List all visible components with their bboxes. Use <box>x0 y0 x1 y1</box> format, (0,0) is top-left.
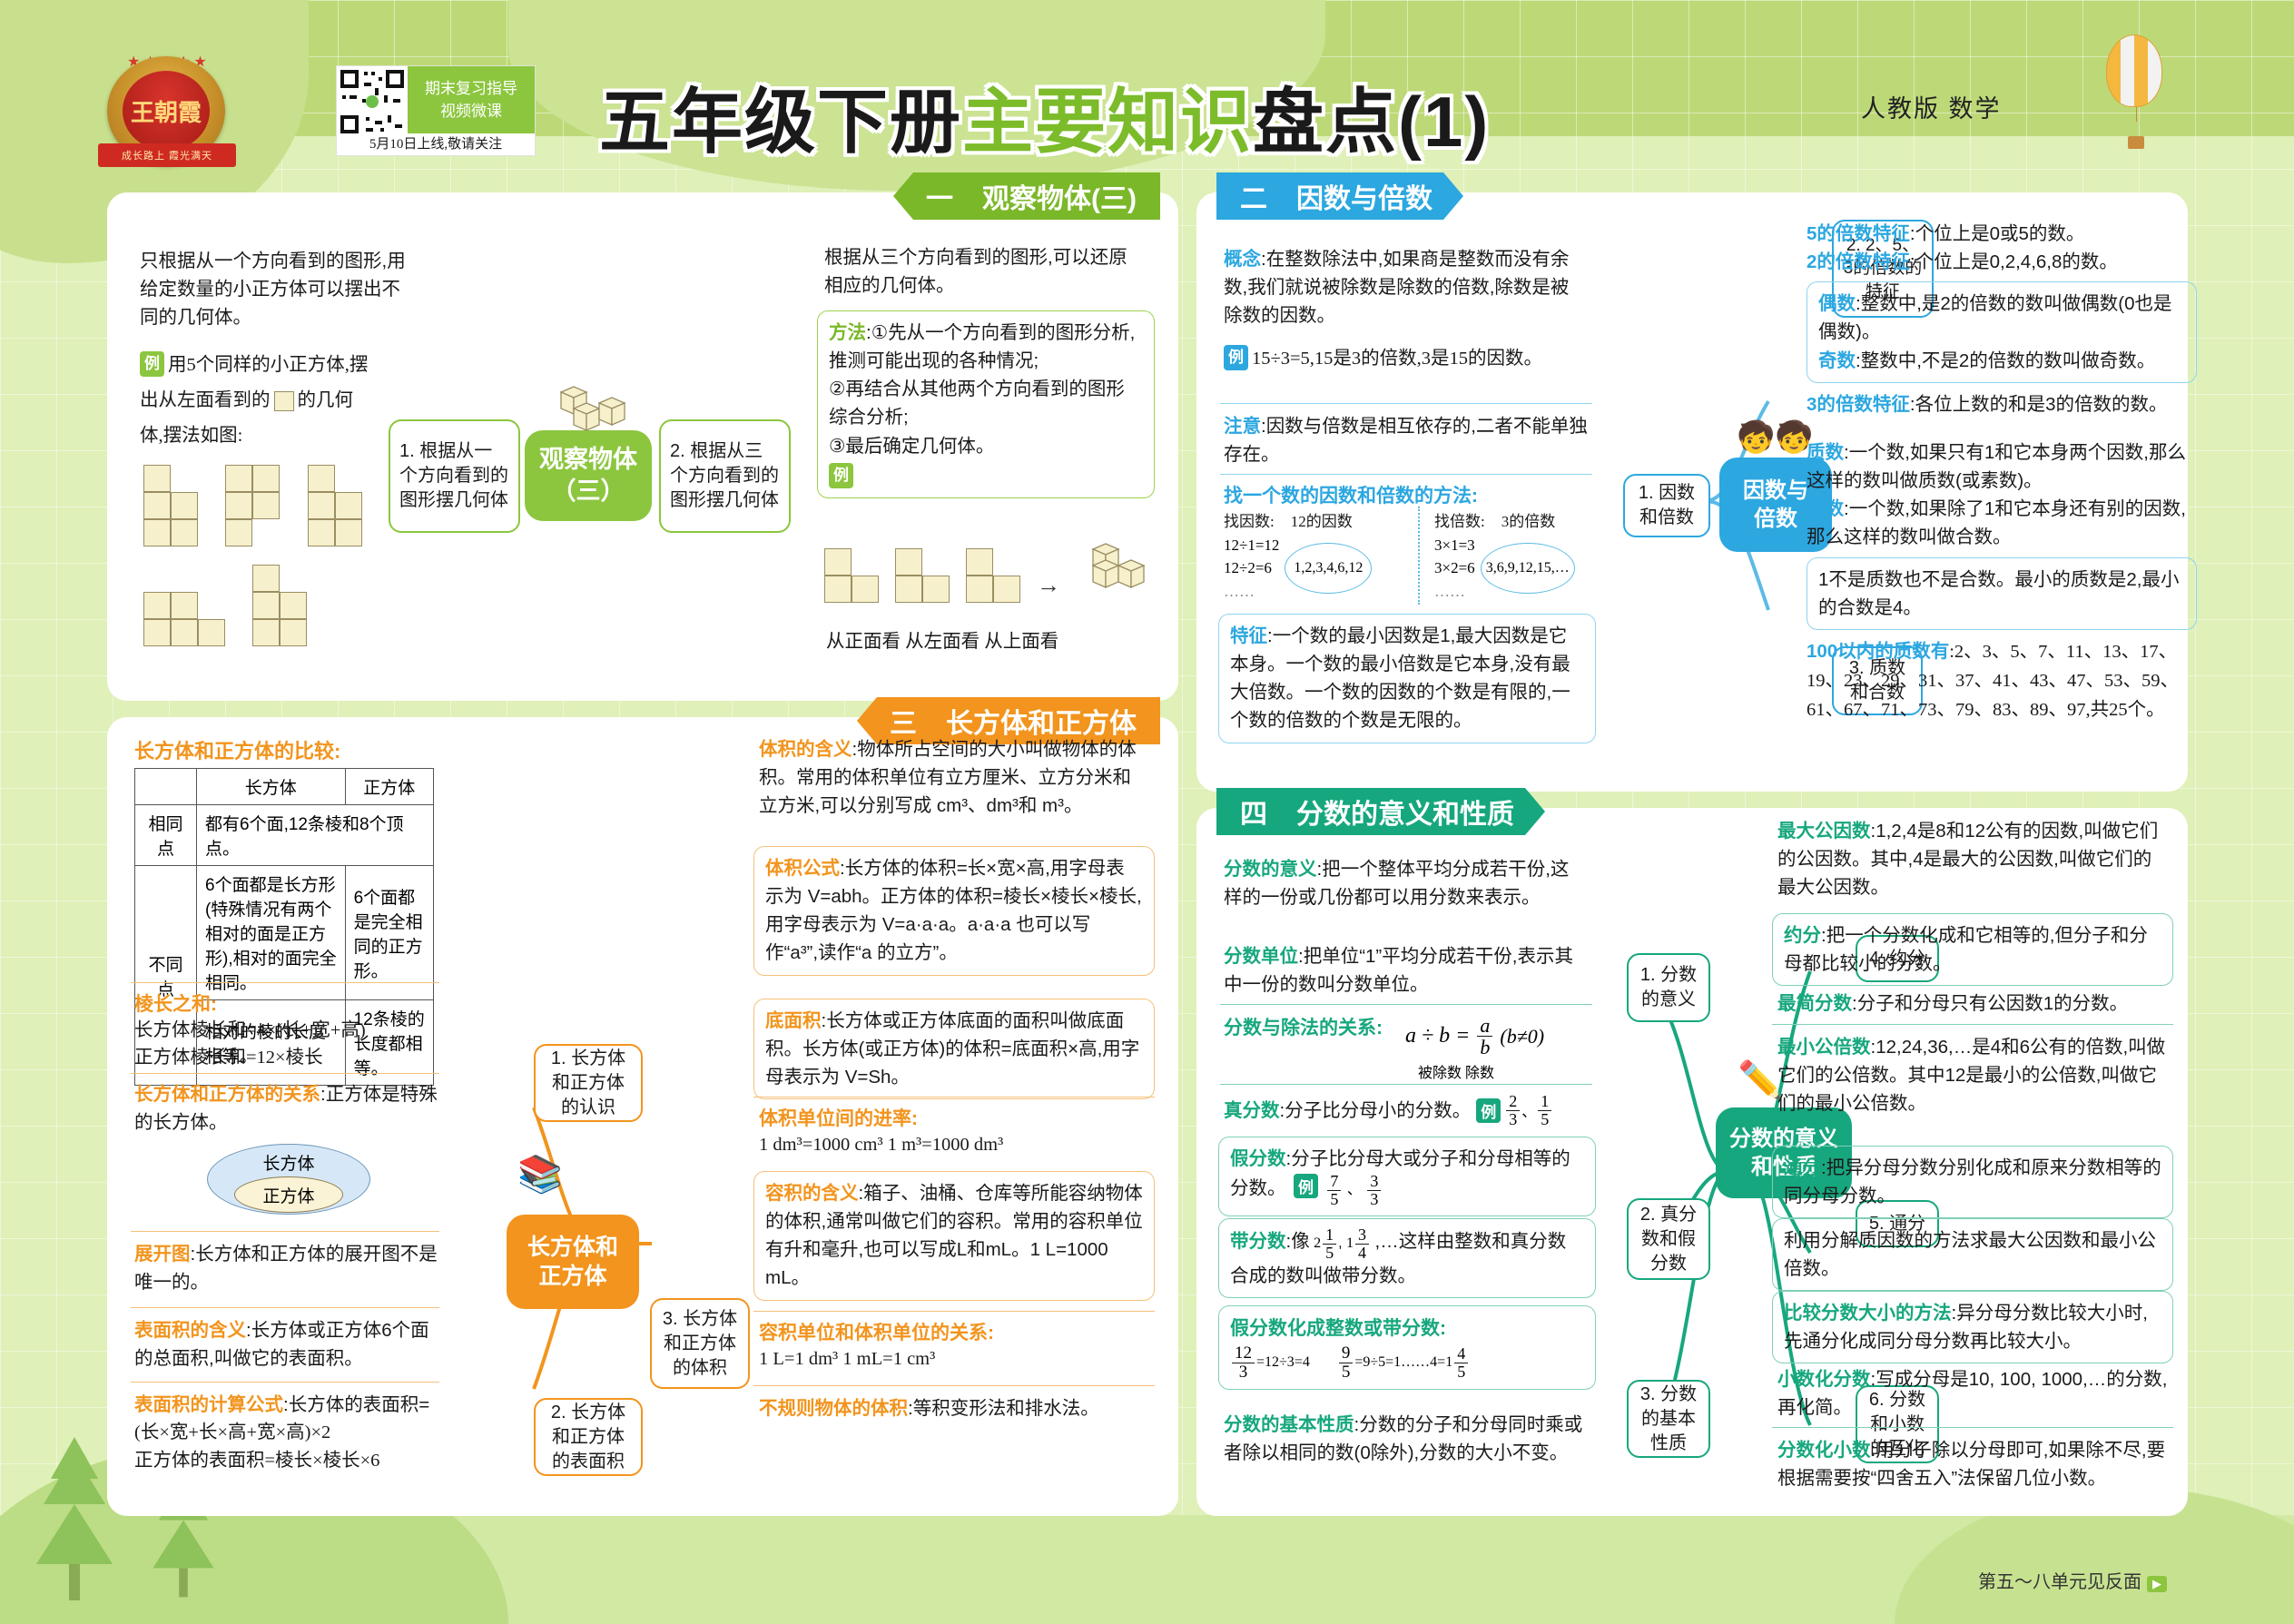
surface-formula-2: (长×宽+长×高+宽×高)×2 <box>134 1419 452 1447</box>
cube-shape <box>143 465 198 546</box>
section-3-node-1[interactable]: 1. 长方体和正方体的认识 <box>534 1044 643 1122</box>
section-1-panel: 一 观察物体(三) 只根据从一个方向看到的图形,用给定数量的小正方体可以摆出不同… <box>107 192 1178 701</box>
vertical-divider <box>1418 507 1420 605</box>
section-4-number: 四 <box>1240 792 1267 832</box>
find-multiple-line2: 3×2=6 <box>1434 556 1475 580</box>
improper-example-2: 33 <box>1367 1173 1381 1208</box>
note-text: :因数与倍数是相互依存的,二者不能单独存在。 <box>1224 416 1588 465</box>
qr-promo-line2: 视频微课 <box>440 100 502 123</box>
small-square-icon <box>274 391 294 411</box>
irregular-text: :等积变形法和排水法。 <box>908 1398 1099 1419</box>
section-2-node-1[interactable]: 1. 因数和倍数 <box>1623 474 1710 537</box>
three-views-captions: 从正面看 从左面看 从上面看 <box>826 628 1058 656</box>
section-4-panel: 四 分数的意义和性质 分数的意义:把一个整体平均分成若干份,这样的一份或几份都可… <box>1196 808 2188 1516</box>
cmp-head-2: 正方体 <box>345 769 433 805</box>
rule-5-text: :个位上是0或5的数。 <box>1910 223 2085 244</box>
method-text-3: ③最后确定几何体。 <box>829 432 1143 460</box>
reduce-box: 约分:把一个分数化成和它相等的,但分子和分母都比较小的分数。 <box>1772 913 2173 986</box>
prime-factor-box: 利用分解质因数的方法求最大公因数和最小公倍数。 <box>1772 1218 2173 1291</box>
table-header-row: 长方体 正方体 <box>135 769 434 805</box>
mixed-label: 带分数 <box>1230 1231 1286 1252</box>
fraction-unit-block: 分数单位:把单位“1”平均分成若干份,表示其中一份的数叫分数单位。 <box>1224 942 1587 999</box>
conversion-eq-2: =9÷5=1……4= <box>1354 1354 1445 1370</box>
cmp-diff-a1: 6个面都是长方形(特殊情况有两个相对的面是正方形),相对的面完全相同。 <box>197 866 346 1000</box>
section-3-node-3[interactable]: 3. 长方体和正方体的体积 <box>650 1298 750 1389</box>
basic-property-block: 分数的基本性质:分数的分子和分母同时乘或者除以相同的数(0除外),分数的大小不变… <box>1224 1411 1587 1467</box>
capacity-relation-block: 容积单位和体积单位的关系: 1 L=1 dm³ 1 mL=1 cm³ <box>759 1318 994 1373</box>
rule-2-text: :个位上是0,2,4,6,8的数。 <box>1910 251 2118 272</box>
meaning-label: 分数的意义 <box>1224 859 1317 880</box>
page-title: 五年级下册主要知识盘点(1) <box>599 65 1743 156</box>
page-header: ★★★★★ 王朝霞 成长路上 霞光满天 <box>0 0 2294 182</box>
section-2-header: 二 因数与倍数 <box>1216 172 1463 220</box>
section-1-method-box: 方法:①先从一个方向看到的图形分析,推测可能出现的各种情况; ②再结合从其他两个… <box>817 310 1155 498</box>
section-2-example: 例15÷3=5,15是3的倍数,3是15的因数。 <box>1224 345 1587 373</box>
dec2frac-label: 小数化分数 <box>1777 1369 1871 1390</box>
venn-inner-label: 正方体 <box>234 1176 343 1213</box>
even-text: :整数中,是2的倍数的数叫做偶数(0也是偶数)。 <box>1818 293 2172 342</box>
division-relation-formula: a ÷ b = ab (b≠0) <box>1405 1015 1544 1058</box>
rule-2-label: 2的倍数特征 <box>1807 251 1910 272</box>
method-text-1: :①先从一个方向看到的图形分析,推测可能出现的各种情况; <box>829 322 1135 371</box>
example-badge: 例 <box>140 351 164 377</box>
mixed-example-1: 215 <box>1314 1226 1338 1262</box>
proper-label: 真分数 <box>1224 1100 1280 1121</box>
surface-area-block: 表面积的含义:长方体或正方体6个面的总面积,叫做它的表面积。 <box>134 1316 443 1373</box>
section-1-right-text: 根据从三个方向看到的图形,可以还原相应的几何体。 <box>824 243 1142 300</box>
find-multiple-line1: 3×1=3 <box>1434 534 1475 557</box>
capacity-label: 容积的含义 <box>765 1183 859 1204</box>
section-1-title: 观察物体(三) <box>982 176 1137 216</box>
capacity-relation-label: 容积单位和体积单位的关系: <box>759 1318 994 1345</box>
table-row: 不同点 6个面都是长方形(特殊情况有两个相对的面是正方形),相对的面完全相同。 … <box>135 866 434 1000</box>
cmp-head-0 <box>135 769 197 805</box>
gcd-label: 最大公因数 <box>1777 821 1871 842</box>
fraction-meaning-block: 分数的意义:把一个整体平均分成若干份,这样的一份或几份都可以用分数来表示。 <box>1224 855 1587 911</box>
section-2-concept: 概念:在整数除法中,如果商是整数而没有余数,我们就说被除数是除数的倍数,除数是被… <box>1224 245 1587 330</box>
common-label: 通分 <box>1784 1157 1821 1178</box>
section-4-node-3[interactable]: 3. 分数的基本性质 <box>1627 1380 1710 1458</box>
irregular-label: 不规则物体的体积 <box>759 1398 908 1419</box>
lcm-label: 最小公倍数 <box>1777 1037 1871 1058</box>
top-view-shape <box>966 548 1020 603</box>
edge-sum-title: 棱长之和: <box>134 989 217 1017</box>
front-view-shape <box>824 548 879 603</box>
composite-label: 合数 <box>1807 498 1844 519</box>
frac2dec-label: 分数化小数 <box>1777 1440 1871 1461</box>
brand-logo-text: 王朝霞 <box>123 71 210 151</box>
section-3-panel: 三 长方体和正方体 长方体和正方体的比较: 长方体 正方体 相同点 都有6个面,… <box>107 717 1178 1516</box>
proper-text: :分子比分母小的分数。 <box>1280 1100 1472 1121</box>
divider <box>1220 474 1592 475</box>
improper-label: 假分数 <box>1230 1148 1286 1169</box>
find-factor-result-bubble: 1,2,3,4,6,12 <box>1285 543 1372 594</box>
prime-note-text: 1不是质数也不是合数。最小的质数是2,最小的合数是4。 <box>1818 566 2185 622</box>
base-area-label: 底面积 <box>765 1010 822 1031</box>
divider <box>1772 1427 2173 1428</box>
find-factor-line2: 12÷2=6 <box>1224 556 1279 580</box>
section-1-node-2[interactable]: 2. 根据从三个方向看到的图形摆几何体 <box>659 419 791 533</box>
improper-fraction-box: 假分数:分子比分母大或分子和分母相等的分数。 例 75 、 33 <box>1218 1137 1596 1216</box>
rule-3-label: 3的倍数特征 <box>1807 394 1910 415</box>
mixed-number-box: 带分数:像 215, 134 ,…这样由整数和真分数合成的数叫做带分数。 <box>1218 1218 1596 1298</box>
conversion-label: 体积单位间的进率: <box>759 1104 1003 1131</box>
find-multiple-label: 找倍数: <box>1434 510 1485 534</box>
primes-under-100-label: 100以内的质数有 <box>1807 641 1949 662</box>
example-text: 15÷3=5,15是3的倍数,3是15的因数。 <box>1252 349 1542 369</box>
method-text-2: ②再结合从其他两个方向看到的图形综合分析; <box>829 375 1143 431</box>
conversion-eq-1: =12÷3=4 <box>1256 1354 1310 1370</box>
relation-label: 长方体和正方体的关系 <box>134 1084 320 1105</box>
tree-decoration <box>36 1459 113 1600</box>
cube-shape <box>225 465 280 546</box>
section-4-node-2[interactable]: 2. 真分数和假分数 <box>1627 1198 1710 1280</box>
divider <box>753 1385 1155 1386</box>
prime-text: :一个数,如果只有1和它本身两个因数,那么这样的数叫做质数(或素数)。 <box>1807 442 2186 491</box>
conversion-title: 假分数化成整数或带分数: <box>1230 1314 1584 1341</box>
even-label: 偶数 <box>1818 293 1856 314</box>
common-denominator-box: 通分:把异分母分数分别化成和原来分数相等的同分母分数。 <box>1772 1146 2173 1218</box>
volume-formula-label: 体积公式 <box>765 858 840 879</box>
pencil-mascot-icon: ✏️ <box>1738 1058 1783 1101</box>
surface-formula-block: 表面积的计算公式:长方体的表面积= (长×宽+长×高+宽×高)×2 正方体的表面… <box>134 1391 452 1475</box>
comparison-title: 长方体和正方体的比较: <box>134 735 340 764</box>
conversion-text: 1 dm³=1000 cm³ 1 m³=1000 dm³ <box>759 1131 1003 1159</box>
section-1-hub: 观察物体 （三） <box>525 430 652 521</box>
surface-formula-label: 表面积的计算公式 <box>134 1394 283 1415</box>
brand-ribbon: 成长路上 霞光满天 <box>98 143 236 167</box>
rule-5-label: 5的倍数特征 <box>1807 223 1910 244</box>
cmp-head-1: 长方体 <box>197 769 346 805</box>
divider <box>1772 1024 2173 1025</box>
unfold-block: 展开图:长方体和正方体的展开图不是唯一的。 <box>134 1240 443 1296</box>
volume-label: 体积的含义 <box>759 739 852 760</box>
capacity-box: 容积的含义:箱子、油桶、仓库等所能容纳物体的体积,通常叫做它们的容积。常用的容积… <box>753 1171 1155 1301</box>
section-2-feature-box: 特征:一个数的最小因数是1,最大因数是它本身。一个数的最小倍数是它本身,没有最大… <box>1218 614 1596 743</box>
proper-example-2: 15 <box>1538 1093 1551 1128</box>
venn-outer-label: 长方体 <box>262 1150 314 1175</box>
section-4-title: 分数的意义和性质 <box>1296 792 1514 832</box>
reduce-label: 约分 <box>1784 925 1821 946</box>
cmp-diff-b1: 6个面都是完全相同的正方形。 <box>345 866 433 1000</box>
method-label: 方法 <box>829 322 866 343</box>
decimal-to-fraction-block: 小数化分数:写成分母是10, 100, 1000,…的分数,再化简。 <box>1777 1365 2168 1422</box>
divider <box>131 1382 439 1383</box>
section-4-header: 四 分数的意义和性质 <box>1216 788 1545 835</box>
division-relation-label: 分数与除法的关系: <box>1224 1013 1383 1040</box>
cube-shape <box>143 592 225 646</box>
edition-label: 人教版 数学 <box>1861 89 2002 124</box>
arrow-right-icon: → <box>1037 571 1060 603</box>
divider <box>131 1231 439 1232</box>
example-badge: 例 <box>1294 1174 1318 1198</box>
find-factor-block: 找因数: 12的因数 12÷1=12 12÷2=6 …… 1,2,3,4,6,1… <box>1224 510 1405 603</box>
surface-label: 表面积的含义 <box>134 1320 246 1341</box>
mascot-icon: 🧒🧒 <box>1737 419 1814 456</box>
section-1-eg-t3: 的几何 <box>298 387 354 415</box>
divider <box>753 1097 1155 1097</box>
irregular-volume-block: 不规则物体的体积:等积变形法和排水法。 <box>759 1394 1149 1422</box>
example-badge: 例 <box>1476 1098 1501 1123</box>
venn-diagram: 长方体 正方体 <box>207 1144 370 1215</box>
improper-conversion-box: 假分数化成整数或带分数: 123=12÷3=4 95=9÷5=1……4=145 <box>1218 1305 1596 1390</box>
section-1-eg-t1: 用5个同样的小正方体,摆 <box>168 355 368 375</box>
divider <box>131 1307 439 1308</box>
hot-air-balloon-icon <box>2106 34 2166 143</box>
improper-example-1: 75 <box>1327 1173 1341 1208</box>
volume-conversion-block: 体积单位间的进率: 1 dm³=1000 cm³ 1 m³=1000 dm³ <box>759 1104 1003 1159</box>
section-2-number: 二 <box>1240 176 1267 216</box>
divider <box>131 982 439 983</box>
section-3-hub: 长方体和 正方体 <box>507 1215 639 1309</box>
concept-text: :在整数除法中,如果商是整数而没有余数,我们就说被除数是除数的倍数,除数是被除数… <box>1224 249 1569 326</box>
division-relation-sub: 被除数 除数 <box>1418 1060 1494 1082</box>
example-badge: 例 <box>829 463 853 488</box>
cube-arrangements-row1 <box>143 465 362 546</box>
qr-promo-box[interactable]: 期末复习指导 视频微课 5月10日上线,敬请关注 <box>336 65 536 156</box>
find-method-title: 找一个数的因数和倍数的方法: <box>1224 481 1478 508</box>
section-3-node-2[interactable]: 2. 长方体和正方体的表面积 <box>534 1398 643 1476</box>
cube-shape <box>308 465 362 546</box>
feature-label: 特征 <box>1230 625 1267 646</box>
reduce-text: :把一个分数化成和它相等的,但分子和分母都比较小的分数。 <box>1784 925 2148 974</box>
mixed-text-1: :像 <box>1286 1231 1310 1252</box>
section-2-title: 因数与倍数 <box>1296 176 1433 216</box>
find-factor-line3: …… <box>1224 580 1279 604</box>
cube-arrangements-row2 <box>143 565 307 646</box>
three-views-diagram: → <box>824 542 1149 603</box>
unfold-label: 展开图 <box>134 1244 191 1265</box>
divider <box>1220 1084 1592 1085</box>
base-area-text: :长方体或正方体底面的面积叫做底面积。长方体(或正方体)的体积=底面积×高,用字… <box>765 1010 1139 1088</box>
simplest-text: :分子和分母只有公因数1的分数。 <box>1852 993 2128 1014</box>
footer-note-text: 第五～八单元见反面 <box>1978 1572 2141 1592</box>
section-2-note: 注意:因数与倍数是相互依存的,二者不能单独存在。 <box>1224 412 1591 468</box>
section-1-left-text: 只根据从一个方向看到的图形,用给定数量的小正方体可以摆出不同的几何体。 <box>140 247 412 331</box>
lcm-block: 最小公倍数:12,24,36,…是4和6公有的倍数,叫做它们的公倍数。其中12是… <box>1777 1033 2168 1117</box>
simplest-label: 最简分数 <box>1777 993 1852 1014</box>
page-title-part2: 主要知识 <box>962 82 1253 162</box>
unit-label: 分数单位 <box>1224 946 1298 967</box>
footer-arrow-icon: ▶ <box>2147 1576 2167 1592</box>
base-area-box: 底面积:长方体或正方体底面的面积叫做底面积。长方体(或正方体)的体积=底面积×高… <box>753 999 1155 1099</box>
isometric-cubes-icon <box>543 385 634 444</box>
example-badge: 例 <box>1224 345 1248 370</box>
section-1-node-1[interactable]: 1. 根据从一个方向看到的图形摆几何体 <box>389 419 520 533</box>
section-2-right-column: 5的倍数特征:个位上是0或5的数。 2的倍数特征:个位上是0,2,4,6,8的数… <box>1807 220 2197 724</box>
divider <box>1220 1004 1592 1005</box>
mixed-example-2: 134 <box>1346 1226 1371 1262</box>
find-multiple-block: 找倍数: 3的倍数 3×1=3 3×2=6 …… 3,6,9,12,15,… <box>1434 510 1616 603</box>
proper-example-1: 23 <box>1506 1093 1520 1128</box>
rule-3-text: :各位上数的和是3的倍数的数。 <box>1910 394 2168 415</box>
page-title-part3: 盘点(1) <box>1253 82 1490 162</box>
proper-fraction-block: 真分数:分子比分母小的分数。 例 23 、 15 <box>1224 1093 1596 1128</box>
edge-sum-line1: 长方体棱长和=4×(长+宽+高) <box>134 1017 366 1045</box>
section-4-node-1[interactable]: 1. 分数的意义 <box>1627 953 1710 1022</box>
section-1-header: 一 观察物体(三) <box>893 172 1160 220</box>
section-1-number: 一 <box>926 176 953 216</box>
surface-formula-3: 正方体的表面积=棱长×棱长×6 <box>134 1447 452 1475</box>
qr-promo-line1: 期末复习指导 <box>425 77 517 101</box>
shape-relation: 长方体和正方体的关系:正方体是特殊的长方体。 <box>134 1080 443 1137</box>
compare-fraction-box: 比较分数大小的方法:异分母分数比较大小时,先通分化成同分母分数再比较大小。 <box>1772 1291 2173 1363</box>
concept-label: 概念 <box>1224 249 1261 270</box>
resulting-solid-icon <box>1077 542 1149 603</box>
compare-label: 比较分数大小的方法 <box>1784 1303 1952 1324</box>
book-icon: 📚 <box>517 1153 563 1196</box>
prime-factor-text: 利用分解质因数的方法求最大公因数和最小公倍数。 <box>1784 1226 2161 1283</box>
find-multiple-head: 3的倍数 <box>1501 510 1556 534</box>
find-factor-label: 找因数: <box>1224 510 1275 534</box>
find-multiple-line3: …… <box>1434 580 1475 604</box>
basic-property-label: 分数的基本性质 <box>1224 1414 1354 1435</box>
volume-meaning-block: 体积的含义:物体所占空间的大小叫做物体的体积。常用的体积单位有立方厘米、立方分米… <box>759 735 1149 820</box>
composite-text: :一个数,如果除了1和它本身还有别的因数,那么这样的数叫做合数。 <box>1807 498 2186 547</box>
volume-formula-box: 体积公式:长方体的体积=长×宽×高,用字母表示为 V=abh。正方体的体积=棱长… <box>753 846 1155 976</box>
cube-shape <box>252 565 307 646</box>
section-1-eg-t2: 出从左面看到的 <box>140 387 271 415</box>
divider <box>1220 403 1592 404</box>
left-view-shape <box>895 548 950 603</box>
find-multiple-result-bubble: 3,6,9,12,15,… <box>1481 543 1575 594</box>
note-label: 注意 <box>1224 416 1261 437</box>
cmp-same-text: 都有6个面,12条棱和8个顶点。 <box>197 805 434 866</box>
fraction-to-decimal-block: 分数化小数:用分子除以分母即可,如果除不尽,要根据需要按“四舍五入”法保留几位小… <box>1777 1436 2168 1492</box>
cmp-same-label: 相同点 <box>135 805 197 866</box>
divider <box>131 1073 439 1074</box>
prime-label: 质数 <box>1807 442 1844 463</box>
odd-text: :整数中,不是2的倍数的数叫做奇数。 <box>1856 350 2155 371</box>
qr-promo-note: 5月10日上线,敬请关注 <box>337 133 535 155</box>
qr-promo-label: 期末复习指导 视频微课 <box>408 66 535 133</box>
footer-note: 第五～八单元见反面▶ <box>1978 1567 2167 1593</box>
table-row: 相同点 都有6个面,12条棱和8个顶点。 <box>135 805 434 866</box>
simplest-block: 最简分数:分子和分母只有公因数1的分数。 <box>1777 989 2168 1018</box>
gcd-block: 最大公因数:1,2,4是8和12公有的因数,叫做它们的公因数。其中,4是最大的公… <box>1777 817 2168 901</box>
page-title-part1: 五年级下册 <box>599 82 962 162</box>
divider <box>753 1311 1155 1312</box>
find-factor-head: 12的因数 <box>1291 510 1353 534</box>
edge-sum-line2: 正方体棱长和=12×棱长 <box>134 1044 323 1072</box>
qr-code-icon[interactable] <box>339 68 406 135</box>
even-odd-box: 偶数:整数中,是2的倍数的数叫做偶数(0也是偶数)。 奇数:整数中,不是2的倍数… <box>1807 281 2197 382</box>
common-text: :把异分母分数分别化成和原来分数相等的同分母分数。 <box>1784 1157 2161 1206</box>
capacity-relation-text: 1 L=1 dm³ 1 mL=1 cm³ <box>759 1345 994 1373</box>
surface-formula-1: :长方体的表面积= <box>283 1394 429 1415</box>
prime-note-box: 1不是质数也不是合数。最小的质数是2,最小的合数是4。 <box>1807 557 2197 630</box>
feature-text: :一个数的最小因数是1,最大因数是它本身。一个数的最小倍数是它本身,没有最大倍数… <box>1230 625 1570 731</box>
find-factor-line1: 12÷1=12 <box>1224 534 1279 557</box>
conversion-equations: 123=12÷3=4 95=9÷5=1……4=145 <box>1230 1344 1584 1382</box>
odd-label: 奇数 <box>1818 350 1856 371</box>
